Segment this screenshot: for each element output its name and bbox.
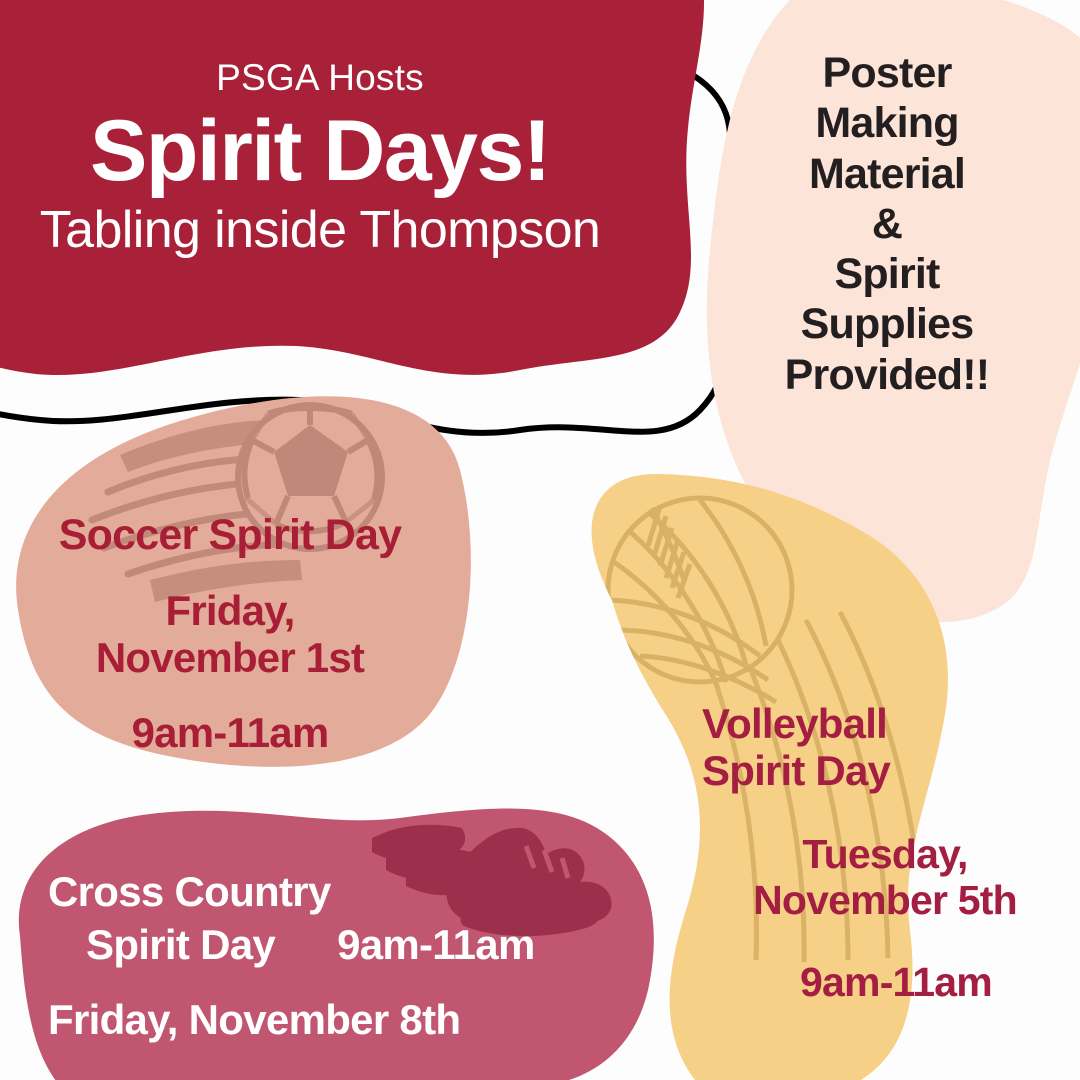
volleyball-event-date: Tuesday, November 5th <box>690 832 1080 924</box>
soccer-event-time: 9am-11am <box>10 709 450 756</box>
supplies-line-5: Spirit <box>742 249 1032 299</box>
header-kicker: PSGA Hosts <box>0 58 640 99</box>
spirit-days-poster: PSGA Hosts Spirit Days! Tabling inside T… <box>0 0 1080 1080</box>
supplies-line-4: & <box>742 199 1032 249</box>
cross-country-event-date: Friday, November 8th <box>0 996 660 1043</box>
soccer-event-card: Soccer Spirit Day Friday, November 1st 9… <box>10 512 450 756</box>
page-title: Spirit Days! <box>0 105 640 198</box>
supplies-callout: Poster Making Material & Spirit Supplies… <box>742 48 1032 400</box>
volleyball-title-line-2: Spirit Day <box>702 747 1080 794</box>
volleyball-event-time: 9am-11am <box>690 960 1080 1006</box>
volleyball-event-day: Tuesday, <box>690 832 1080 878</box>
supplies-line-1: Poster <box>742 48 1032 98</box>
header-subtitle: Tabling inside Thompson <box>0 202 640 259</box>
cross-country-title-line-1: Cross Country <box>0 868 660 915</box>
cross-country-title-line-2: Spirit Day <box>86 921 275 968</box>
supplies-line-6: Supplies <box>742 299 1032 349</box>
supplies-line-2: Making <box>742 98 1032 148</box>
cross-country-title-time-row: Spirit Day 9am-11am <box>0 921 660 968</box>
volleyball-event-date-text: November 5th <box>690 878 1080 924</box>
volleyball-event-card: Volleyball Spirit Day Tuesday, November … <box>690 700 1080 1006</box>
cross-country-event-time: 9am-11am <box>337 921 535 968</box>
header-text-group: PSGA Hosts Spirit Days! Tabling inside T… <box>0 58 640 259</box>
supplies-line-7: Provided!! <box>742 350 1032 400</box>
volleyball-title-line-1: Volleyball <box>702 700 1080 747</box>
supplies-line-3: Material <box>742 149 1032 199</box>
soccer-event-date: November 1st <box>10 634 450 681</box>
soccer-event-day: Friday, <box>10 587 450 634</box>
soccer-event-title: Soccer Spirit Day <box>10 512 450 559</box>
volleyball-event-title: Volleyball Spirit Day <box>690 700 1080 794</box>
cross-country-event-card: Cross Country Spirit Day 9am-11am Friday… <box>0 868 660 1043</box>
